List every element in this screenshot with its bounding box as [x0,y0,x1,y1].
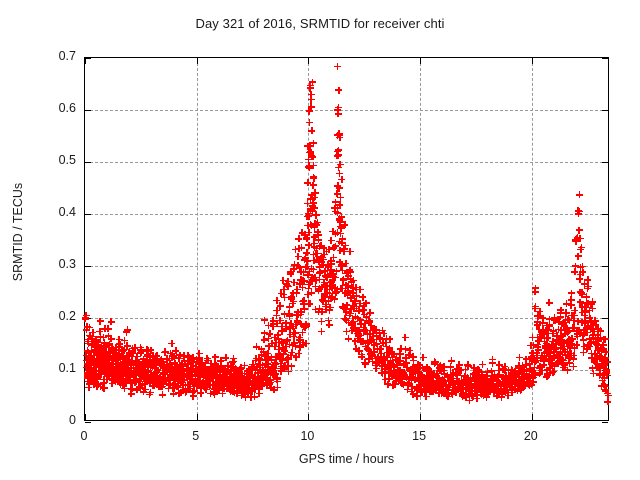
data-point [352,326,359,333]
data-point [454,385,461,392]
data-point [320,245,327,252]
data-point [305,210,312,217]
data-point [337,161,344,168]
data-point [238,387,245,394]
data-point [575,328,582,335]
data-point [560,364,567,371]
data-point [595,346,602,353]
data-point [371,349,378,356]
data-point [172,347,179,354]
data-point [247,387,254,394]
data-point [274,332,281,339]
data-point [418,380,425,387]
data-point [181,360,188,367]
data-point [272,339,279,346]
data-point [144,352,151,359]
data-point [271,386,278,393]
data-point [424,364,431,371]
data-point [231,380,238,387]
data-point [488,372,495,379]
data-point [400,361,407,368]
data-point [190,363,197,370]
data-point [496,361,503,368]
data-point [329,285,336,292]
data-point [193,379,200,386]
data-point [180,367,187,374]
data-point [346,312,353,319]
data-point [215,378,222,385]
data-point [567,337,574,344]
data-point [251,385,258,392]
data-point [125,367,132,374]
data-point [580,349,587,356]
data-point [336,130,343,137]
data-point [311,234,318,241]
data-point [257,361,264,368]
data-point [459,382,466,389]
data-point [473,395,480,402]
data-point [540,327,547,334]
data-point [91,381,98,388]
data-point [556,318,563,325]
data-point [332,208,339,215]
data-point [539,352,546,359]
data-point [433,370,440,377]
data-point [379,327,386,334]
data-point [281,294,288,301]
data-point [313,277,320,284]
data-point [308,265,315,272]
data-point [234,387,241,394]
data-point [582,317,589,324]
data-point [250,377,257,384]
data-point [217,363,224,370]
data-point [147,357,154,364]
data-point [525,379,532,386]
data-point [415,369,422,376]
data-point [576,327,583,334]
data-point [527,378,534,385]
data-point [308,91,315,98]
data-point [198,365,205,372]
data-point [121,356,128,363]
data-point [206,375,213,382]
data-point [259,368,266,375]
data-point [311,234,318,241]
data-point [306,142,313,149]
data-point [230,355,237,362]
data-point [283,356,290,363]
data-point [179,368,186,375]
data-point [518,366,525,373]
data-point [482,384,489,391]
data-point [86,332,93,339]
data-point [255,357,262,364]
data-point [414,387,421,394]
data-point [121,361,128,368]
data-point [236,369,243,376]
data-point [474,388,481,395]
data-point [369,358,376,365]
data-point [250,364,257,371]
data-point [329,272,336,279]
data-point [318,328,325,335]
data-point [362,361,369,368]
data-point [85,384,92,391]
data-point [341,221,348,228]
data-point [246,382,253,389]
data-point [252,382,259,389]
data-point [153,374,160,381]
data-point [460,392,467,399]
data-point [563,310,570,317]
data-point [304,143,311,150]
data-point [122,366,129,373]
data-point [159,369,166,376]
data-point [115,344,122,351]
data-point [541,349,548,356]
data-point [433,387,440,394]
data-point [114,353,121,360]
data-point [371,342,378,349]
data-point [272,353,279,360]
data-point [191,387,198,394]
data-point [253,343,260,350]
data-point [182,389,189,396]
data-point [98,353,105,360]
data-point [306,162,313,169]
data-point [305,156,312,163]
data-point [415,377,422,384]
data-point [499,390,506,397]
data-point [528,381,535,388]
data-point [96,370,103,377]
data-point [116,353,123,360]
data-point [557,334,564,341]
data-point [262,374,269,381]
data-point [104,372,111,379]
data-point [93,336,100,343]
data-point [172,377,179,384]
data-point [597,327,604,334]
data-point [230,358,237,365]
data-point [561,362,568,369]
data-point [220,371,227,378]
data-point [286,341,293,348]
data-point [151,365,158,372]
data-point [277,303,284,310]
data-point [241,385,248,392]
data-point [443,392,450,399]
data-point [550,346,557,353]
data-point [112,378,119,385]
data-point [353,345,360,352]
data-point [588,301,595,308]
data-point [338,225,345,232]
data-point [131,344,138,351]
data-point [497,380,504,387]
data-point [304,213,311,220]
data-point [520,374,527,381]
data-point [450,375,457,382]
data-point [110,348,117,355]
data-point [115,355,122,362]
data-point [406,376,413,383]
data-point [124,360,131,367]
data-point [541,331,548,338]
data-point [460,390,467,397]
data-point [157,373,164,380]
data-point [405,352,412,359]
data-point [138,347,145,354]
data-point [176,352,183,359]
data-point [372,355,379,362]
data-point [242,378,249,385]
data-point [296,344,303,351]
data-point [153,368,160,375]
data-point [344,269,351,276]
data-point [136,375,143,382]
data-point [97,383,104,390]
data-point [212,379,219,386]
data-point [269,340,276,347]
data-point [313,245,320,252]
data-point [109,380,116,387]
data-point [383,343,390,350]
data-point [199,381,206,388]
data-point [246,366,253,373]
data-point [123,375,130,382]
data-point [526,368,533,375]
data-point [599,372,606,379]
data-point [354,315,361,322]
data-point [161,362,168,369]
data-point [479,375,486,382]
data-point [122,359,129,366]
data-point [97,318,104,325]
data-point [287,331,294,338]
data-point [532,285,539,292]
data-point [416,362,423,369]
data-point [336,170,343,177]
data-point [586,307,593,314]
data-point [335,152,342,159]
data-point [535,312,542,319]
data-point [593,354,600,361]
data-point [185,354,192,361]
data-point [89,359,96,366]
data-point [604,390,611,397]
data-point [349,290,356,297]
data-point [85,354,92,361]
data-point [318,318,325,325]
data-point [183,372,190,379]
data-point [415,375,422,382]
data-point [382,370,389,377]
data-point [129,385,136,392]
data-point [256,364,263,371]
data-point [439,376,446,383]
data-point [456,362,463,369]
data-point [260,368,267,375]
data-point [193,356,200,363]
data-point [243,376,250,383]
data-point [424,372,431,379]
data-point [479,372,486,379]
data-point [602,386,609,393]
data-point [338,261,345,268]
data-point [492,387,499,394]
data-point [449,391,456,398]
data-point [130,373,137,380]
data-point [226,375,233,382]
data-point [451,380,458,387]
data-point [446,382,453,389]
data-point [580,336,587,343]
data-point [392,378,399,385]
data-point [98,370,105,377]
data-point [336,201,343,208]
data-point [422,387,429,394]
data-point [410,391,417,398]
data-point [253,355,260,362]
data-point [352,298,359,305]
data-point [209,369,216,376]
data-point [505,377,512,384]
data-point [528,372,535,379]
data-point [595,347,602,354]
data-point [556,337,563,344]
data-point [597,345,604,352]
data-point [221,376,228,383]
data-point [276,351,283,358]
data-point [489,356,496,363]
data-point [103,349,110,356]
data-point [428,370,435,377]
data-point [221,365,228,372]
data-point [185,360,192,367]
data-point [103,351,110,358]
data-point [236,381,243,388]
data-point [314,229,321,236]
data-point [533,355,540,362]
data-point [532,288,539,295]
data-point [457,387,464,394]
data-point [318,308,325,315]
data-point [429,374,436,381]
data-point [231,373,238,380]
data-point [420,380,427,387]
data-point [443,385,450,392]
data-point [507,376,514,383]
data-point [394,367,401,374]
data-point [224,374,231,381]
data-point [448,390,455,397]
data-point [248,386,255,393]
data-point [136,368,143,375]
data-point [384,381,391,388]
data-point [201,368,208,375]
data-point [122,377,129,384]
data-point [398,375,405,382]
data-point [270,365,277,372]
data-point [410,357,417,364]
data-point [113,350,120,357]
data-point [573,342,580,349]
data-point [549,362,556,369]
data-point [480,389,487,396]
data-point [345,288,352,295]
data-point [571,307,578,314]
data-point [235,375,242,382]
data-point [239,377,246,384]
data-point [227,388,234,395]
data-point [600,336,607,343]
data-point [599,377,606,384]
data-point [465,375,472,382]
data-point [176,371,183,378]
data-point [598,345,605,352]
data-point [574,234,581,241]
data-point [196,380,203,387]
data-point [196,377,203,384]
data-point [234,384,241,391]
data-point [421,377,428,384]
data-point [102,368,109,375]
data-point [173,372,180,379]
data-point [570,312,577,319]
data-point [361,359,368,366]
data-point [604,390,611,397]
data-point [484,390,491,397]
data-point [442,388,449,395]
data-point [350,284,357,291]
data-point [217,376,224,383]
data-point [128,362,135,369]
data-point [384,349,391,356]
data-point [110,346,117,353]
data-point [534,352,541,359]
data-point [190,383,197,390]
data-point [517,387,524,394]
data-point [205,373,212,380]
data-point [236,380,243,387]
data-point [287,268,294,275]
data-point [196,357,203,364]
data-point [579,263,586,270]
data-point [599,372,606,379]
data-point [509,378,516,385]
data-point [590,334,597,341]
data-point [109,369,116,376]
data-point [345,283,352,290]
data-point [478,374,485,381]
data-point [370,326,377,333]
data-point [577,246,584,253]
data-point [199,367,206,374]
data-point [302,324,309,331]
data-point [602,348,609,355]
data-point [174,383,181,390]
data-point [571,345,578,352]
data-point [526,360,533,367]
data-point [246,378,253,385]
data-point [91,379,98,386]
data-point [207,375,214,382]
data-point [578,319,585,326]
data-point [215,384,222,391]
data-point [553,341,560,348]
